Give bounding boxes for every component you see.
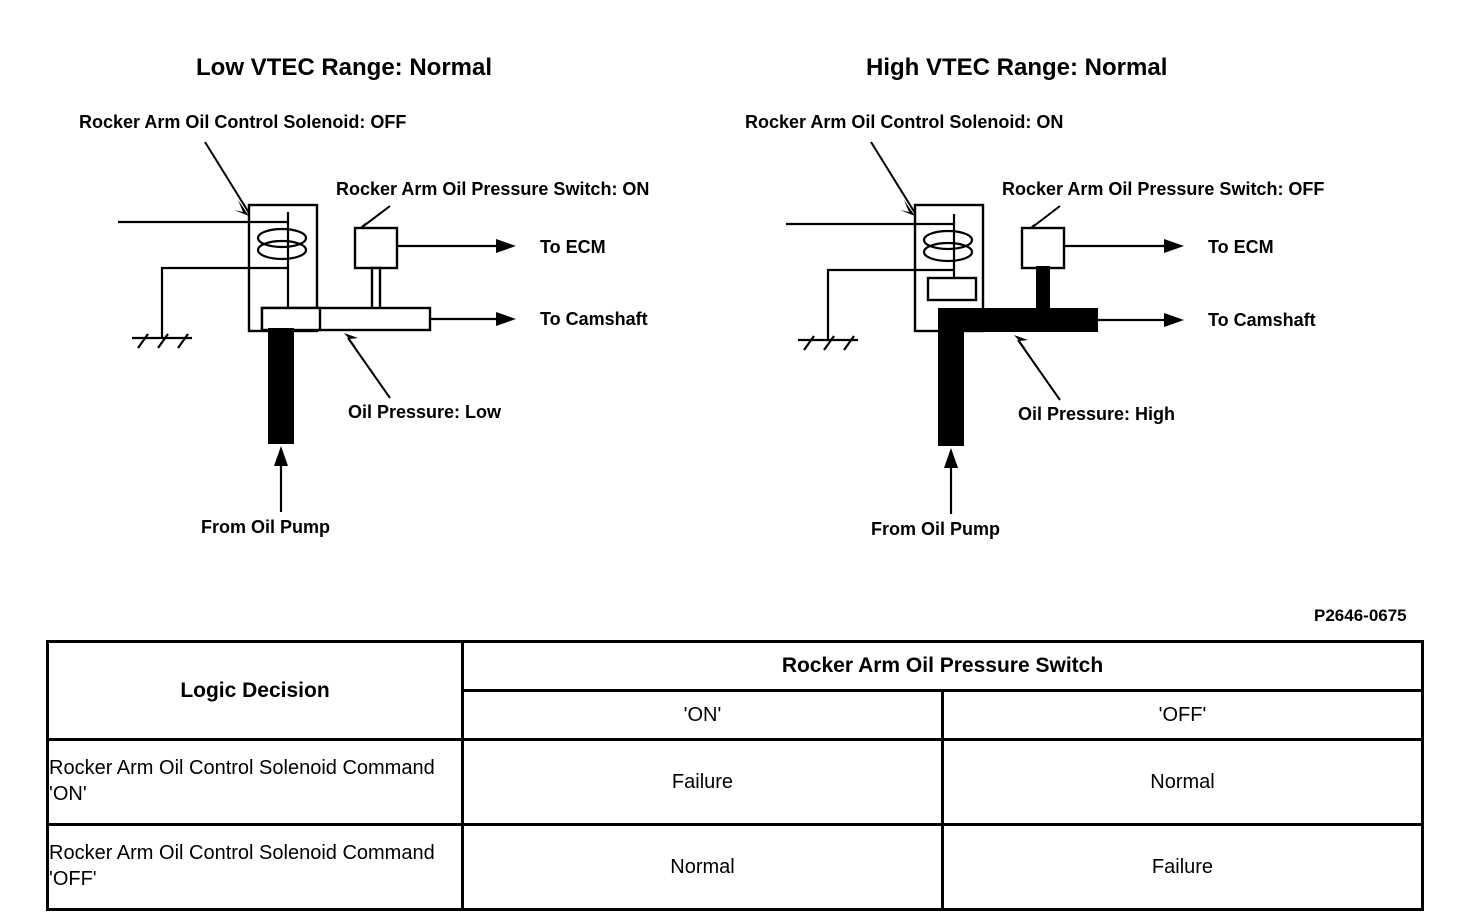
switch-stem-high	[1036, 266, 1050, 312]
pressure-label-low: Oil Pressure: Low	[348, 402, 502, 422]
header-switch-on: 'ON'	[463, 691, 943, 740]
ground-bar-4-high	[844, 336, 854, 350]
diagram-page: Low VTEC Range: Normal Rocker Arm Oil Co…	[0, 0, 1472, 924]
switch-label-low: Rocker Arm Oil Pressure Switch: ON	[336, 179, 649, 199]
diagram-title-high: High VTEC Range: Normal	[866, 54, 1167, 81]
cell-on-on: Failure	[463, 740, 943, 825]
ecm-arrow-high	[1164, 239, 1184, 253]
pressure-leader-line-high	[1018, 340, 1060, 400]
camshaft-label-high: To Camshaft	[1208, 310, 1316, 330]
pressure-leader-arrow-high	[1014, 335, 1028, 350]
solenoid-plunger-high	[928, 278, 976, 300]
pressure-switch-box-low	[355, 228, 397, 268]
logic-decision-table: Logic Decision Rocker Arm Oil Pressure S…	[46, 640, 1424, 911]
ecm-label-low: To ECM	[540, 237, 606, 257]
diagram-low-vtec: Low VTEC Range: Normal Rocker Arm Oil Co…	[79, 54, 649, 537]
pump-label-low: From Oil Pump	[201, 517, 330, 537]
ground-bar-4-low	[178, 334, 188, 348]
oil-feed-high	[938, 308, 964, 446]
ecm-arrow-low	[496, 239, 516, 253]
camshaft-label-low: To Camshaft	[540, 309, 648, 329]
ground-bar-2-low	[138, 334, 148, 348]
pressure-leader-arrow-low	[344, 333, 358, 348]
cell-off-off: Failure	[943, 825, 1423, 910]
spool-block-low	[262, 308, 320, 330]
camshaft-arrow-high	[1164, 313, 1184, 327]
pressure-switch-box-high	[1022, 228, 1064, 268]
oil-feed-low	[268, 328, 294, 444]
header-logic-decision: Logic Decision	[48, 642, 463, 740]
table-header-row-1: Logic Decision Rocker Arm Oil Pressure S…	[48, 642, 1423, 691]
solenoid-leader-line-high	[871, 142, 915, 213]
header-pressure-switch-group: Rocker Arm Oil Pressure Switch	[463, 642, 1423, 691]
table-row: Rocker Arm Oil Control Solenoid Command …	[48, 825, 1423, 910]
switch-stem-low	[372, 268, 380, 311]
row-label-solenoid-off: Rocker Arm Oil Control Solenoid Command …	[48, 825, 463, 910]
pump-arrow-high	[944, 448, 958, 468]
pressure-label-high: Oil Pressure: High	[1018, 404, 1175, 424]
header-switch-off: 'OFF'	[943, 691, 1423, 740]
solenoid-leader-line-low	[205, 142, 249, 213]
table-row: Rocker Arm Oil Control Solenoid Command …	[48, 740, 1423, 825]
part-number: P2646-0675	[1314, 606, 1407, 625]
cell-on-off: Normal	[943, 740, 1423, 825]
pump-label-high: From Oil Pump	[871, 519, 1000, 539]
diagram-title-low: Low VTEC Range: Normal	[196, 54, 492, 81]
cell-off-on: Normal	[463, 825, 943, 910]
ground-bar-2-high	[804, 336, 814, 350]
switch-label-high: Rocker Arm Oil Pressure Switch: OFF	[1002, 179, 1324, 199]
pressure-leader-line-low	[348, 338, 390, 398]
row-label-solenoid-on: Rocker Arm Oil Control Solenoid Command …	[48, 740, 463, 825]
diagram-high-vtec: High VTEC Range: Normal Rocker Arm Oil C…	[745, 54, 1324, 539]
solenoid-label-high: Rocker Arm Oil Control Solenoid: ON	[745, 112, 1063, 132]
solenoid-label-low: Rocker Arm Oil Control Solenoid: OFF	[79, 112, 406, 132]
ecm-label-high: To ECM	[1208, 237, 1274, 257]
pump-arrow-low	[274, 446, 288, 466]
camshaft-arrow-low	[496, 312, 516, 326]
